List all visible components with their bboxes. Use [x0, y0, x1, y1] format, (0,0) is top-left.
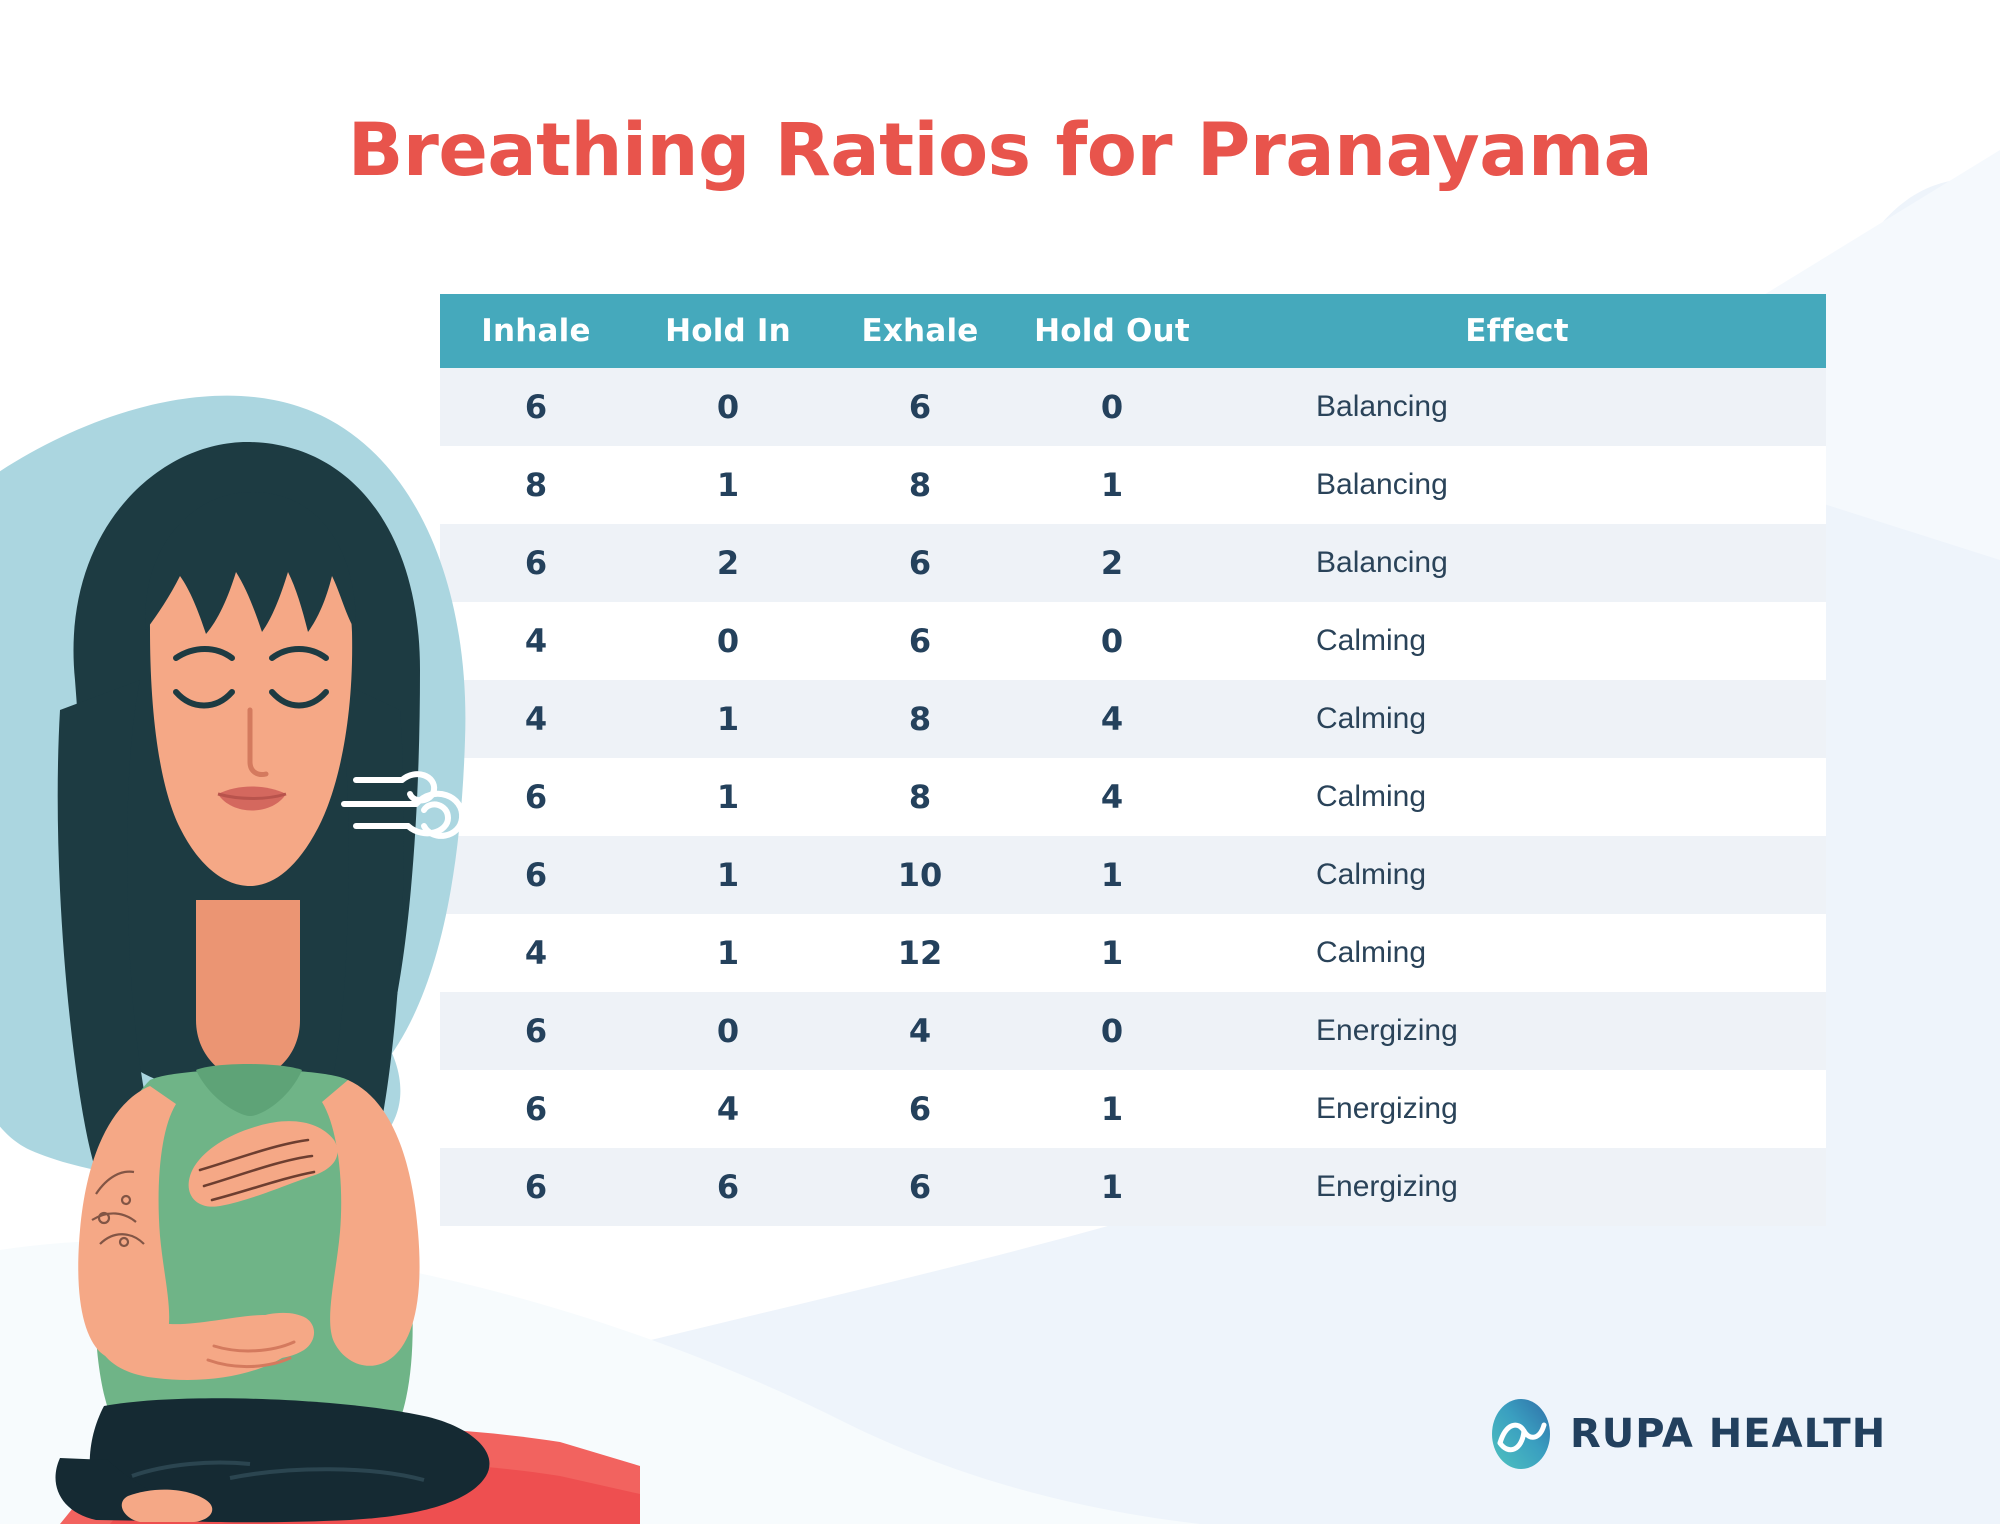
table-row: 8181Balancing [440, 446, 1826, 524]
cell-exhale: 8 [824, 446, 1016, 524]
cell-hold-out: 0 [1016, 992, 1208, 1070]
cell-hold-out: 4 [1016, 680, 1208, 758]
table-row: 4184Calming [440, 680, 1826, 758]
cell-exhale: 12 [824, 914, 1016, 992]
table-row: 6461Energizing [440, 1070, 1826, 1148]
cell-exhale: 4 [824, 992, 1016, 1070]
cell-hold-out: 1 [1016, 836, 1208, 914]
cell-hold-in: 1 [632, 914, 824, 992]
brand-wordmark: RUPA HEALTH [1570, 1411, 1886, 1457]
infographic-canvas: Breathing Ratios for Pranayama Inhale Ho… [0, 0, 2000, 1524]
column-header-hold-out: Hold Out [1016, 294, 1208, 368]
table-header: Inhale Hold In Exhale Hold Out Effect [440, 294, 1826, 368]
cell-effect: Energizing [1208, 1070, 1826, 1148]
cell-hold-in: 1 [632, 446, 824, 524]
cell-hold-out: 2 [1016, 524, 1208, 602]
cell-hold-out: 1 [1016, 914, 1208, 992]
table-row: 6184Calming [440, 758, 1826, 836]
cell-effect: Energizing [1208, 992, 1826, 1070]
table-row: 41121Calming [440, 914, 1826, 992]
cell-hold-in: 2 [632, 524, 824, 602]
page-title: Breathing Ratios for Pranayama [0, 108, 2000, 193]
meditating-woman-illustration [0, 380, 640, 1524]
table-row: 4060Calming [440, 602, 1826, 680]
cell-effect: Calming [1208, 680, 1826, 758]
cell-hold-in: 1 [632, 836, 824, 914]
table-body: 6060Balancing8181Balancing6262Balancing4… [440, 368, 1826, 1226]
table-row: 61101Calming [440, 836, 1826, 914]
table-row: 6661Energizing [440, 1148, 1826, 1226]
cell-effect: Balancing [1208, 446, 1826, 524]
cell-hold-out: 0 [1016, 602, 1208, 680]
cell-exhale: 6 [824, 1070, 1016, 1148]
table-row: 6040Energizing [440, 992, 1826, 1070]
cell-exhale: 8 [824, 680, 1016, 758]
cell-hold-in: 1 [632, 758, 824, 836]
cell-exhale: 6 [824, 524, 1016, 602]
cell-hold-out: 1 [1016, 446, 1208, 524]
table-row: 6262Balancing [440, 524, 1826, 602]
table-row: 6060Balancing [440, 368, 1826, 446]
cell-effect: Balancing [1208, 524, 1826, 602]
cell-hold-out: 0 [1016, 368, 1208, 446]
cell-hold-out: 1 [1016, 1070, 1208, 1148]
cell-hold-in: 4 [632, 1070, 824, 1148]
cell-hold-in: 0 [632, 368, 824, 446]
cell-hold-in: 0 [632, 992, 824, 1070]
cell-exhale: 6 [824, 368, 1016, 446]
column-header-inhale: Inhale [440, 294, 632, 368]
breathing-ratios-table: Inhale Hold In Exhale Hold Out Effect 60… [440, 294, 1826, 1226]
cell-exhale: 6 [824, 1148, 1016, 1226]
cell-hold-in: 6 [632, 1148, 824, 1226]
cell-effect: Balancing [1208, 368, 1826, 446]
cell-hold-out: 4 [1016, 758, 1208, 836]
cell-effect: Energizing [1208, 1148, 1826, 1226]
rupa-infinity-mark-icon [1490, 1397, 1552, 1471]
cell-effect: Calming [1208, 758, 1826, 836]
column-header-effect: Effect [1208, 294, 1826, 368]
cell-exhale: 10 [824, 836, 1016, 914]
cell-hold-in: 0 [632, 602, 824, 680]
cell-effect: Calming [1208, 914, 1826, 992]
column-header-exhale: Exhale [824, 294, 1016, 368]
cell-exhale: 6 [824, 602, 1016, 680]
cell-effect: Calming [1208, 602, 1826, 680]
cell-effect: Calming [1208, 836, 1826, 914]
cell-exhale: 8 [824, 758, 1016, 836]
cell-hold-in: 1 [632, 680, 824, 758]
brand-logo[interactable]: RUPA HEALTH [1490, 1392, 1850, 1476]
column-header-hold-in: Hold In [632, 294, 824, 368]
table-header-row: Inhale Hold In Exhale Hold Out Effect [440, 294, 1826, 368]
cell-hold-out: 1 [1016, 1148, 1208, 1226]
